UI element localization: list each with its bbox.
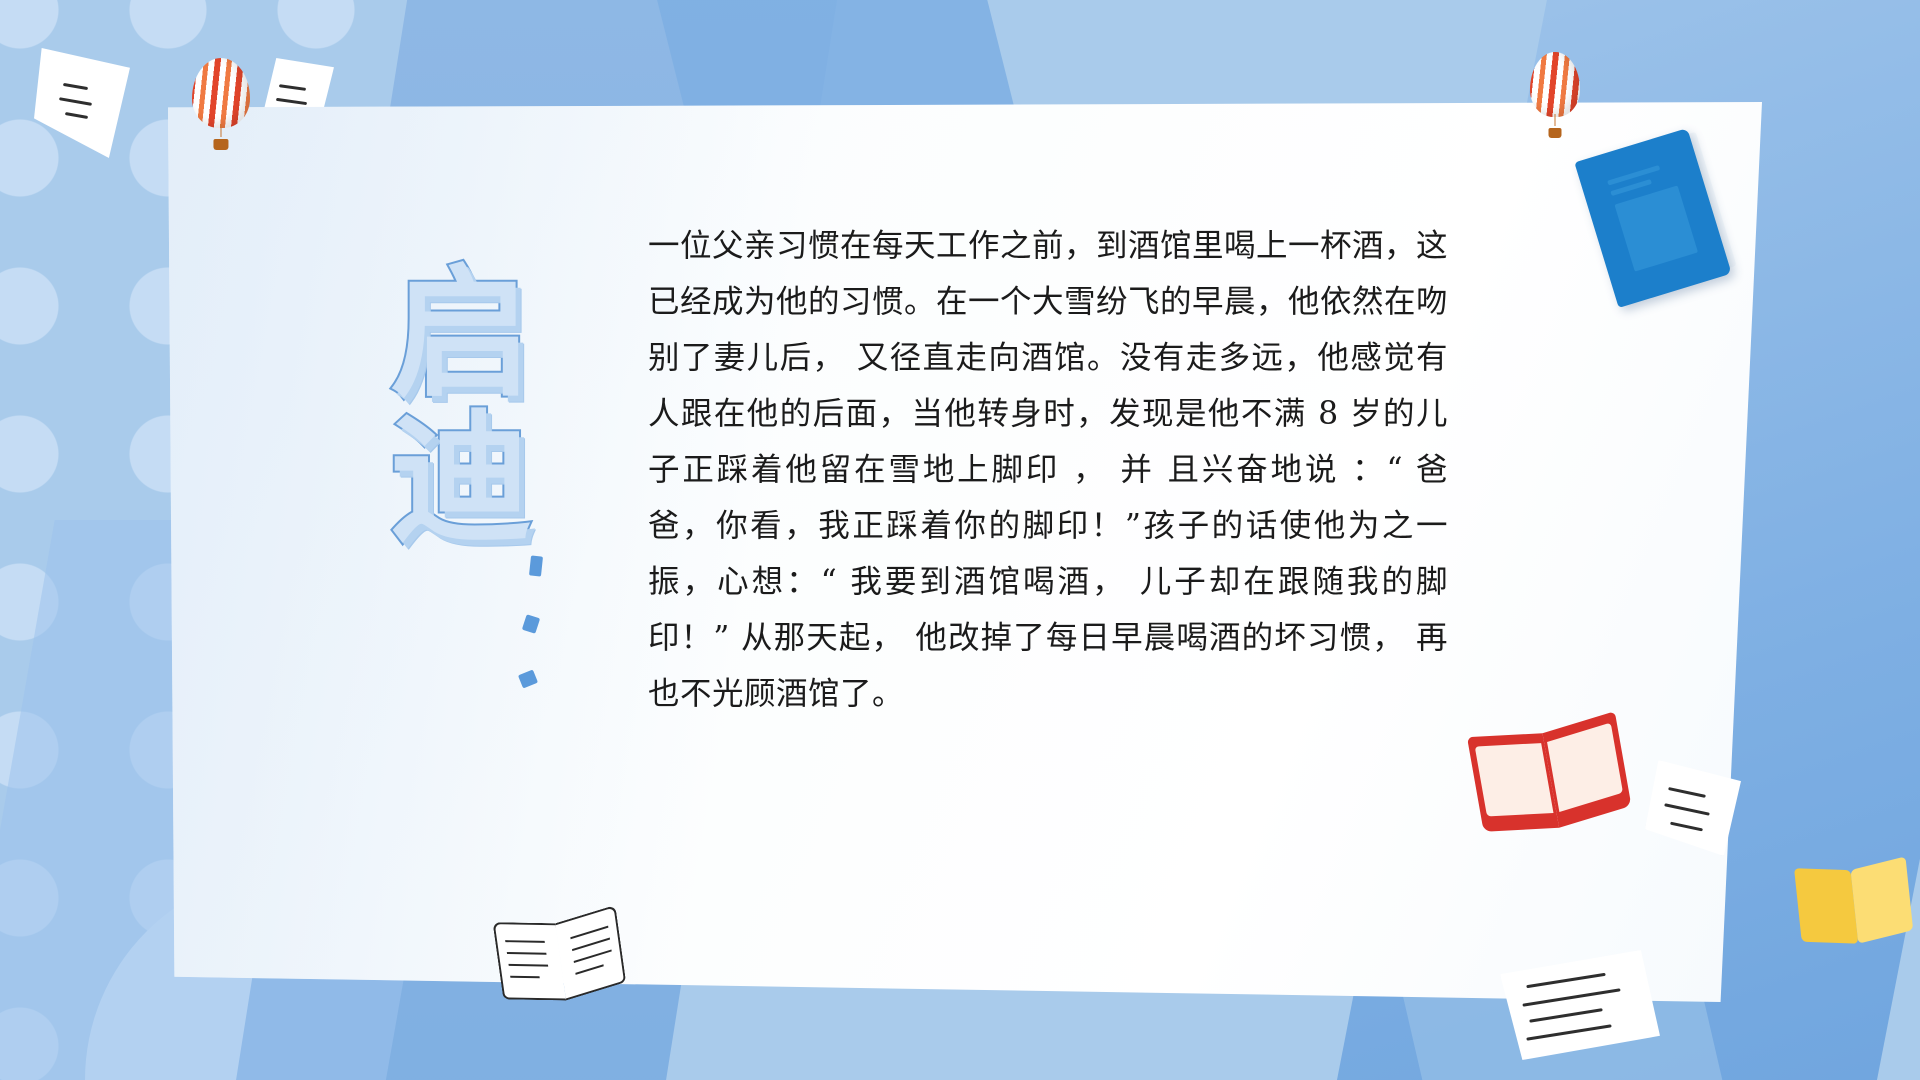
- title-char-2: 迪: [352, 407, 572, 552]
- paper-sheet-icon: [1500, 950, 1660, 1060]
- body-paragraph: 一位父亲习惯在每天工作之前，到酒馆里喝上一杯酒，这已经成为他的习惯。在一个大雪纷…: [648, 218, 1448, 722]
- paper-sheet-icon: [34, 48, 130, 158]
- slide-canvas: 启 迪 一位父亲习惯在每天工作之前，到酒馆里喝上一杯酒，这已经成为他的习惯。在一…: [0, 0, 1920, 1080]
- page-title: 启 迪: [352, 262, 572, 552]
- fleck-decoration: [529, 555, 543, 576]
- hot-air-balloon-icon: [192, 58, 250, 150]
- yellow-book-icon: [1794, 860, 1913, 945]
- title-char-1: 启: [352, 262, 572, 407]
- hot-air-balloon-icon: [1530, 52, 1580, 138]
- paper-sheet-icon: [1645, 760, 1741, 856]
